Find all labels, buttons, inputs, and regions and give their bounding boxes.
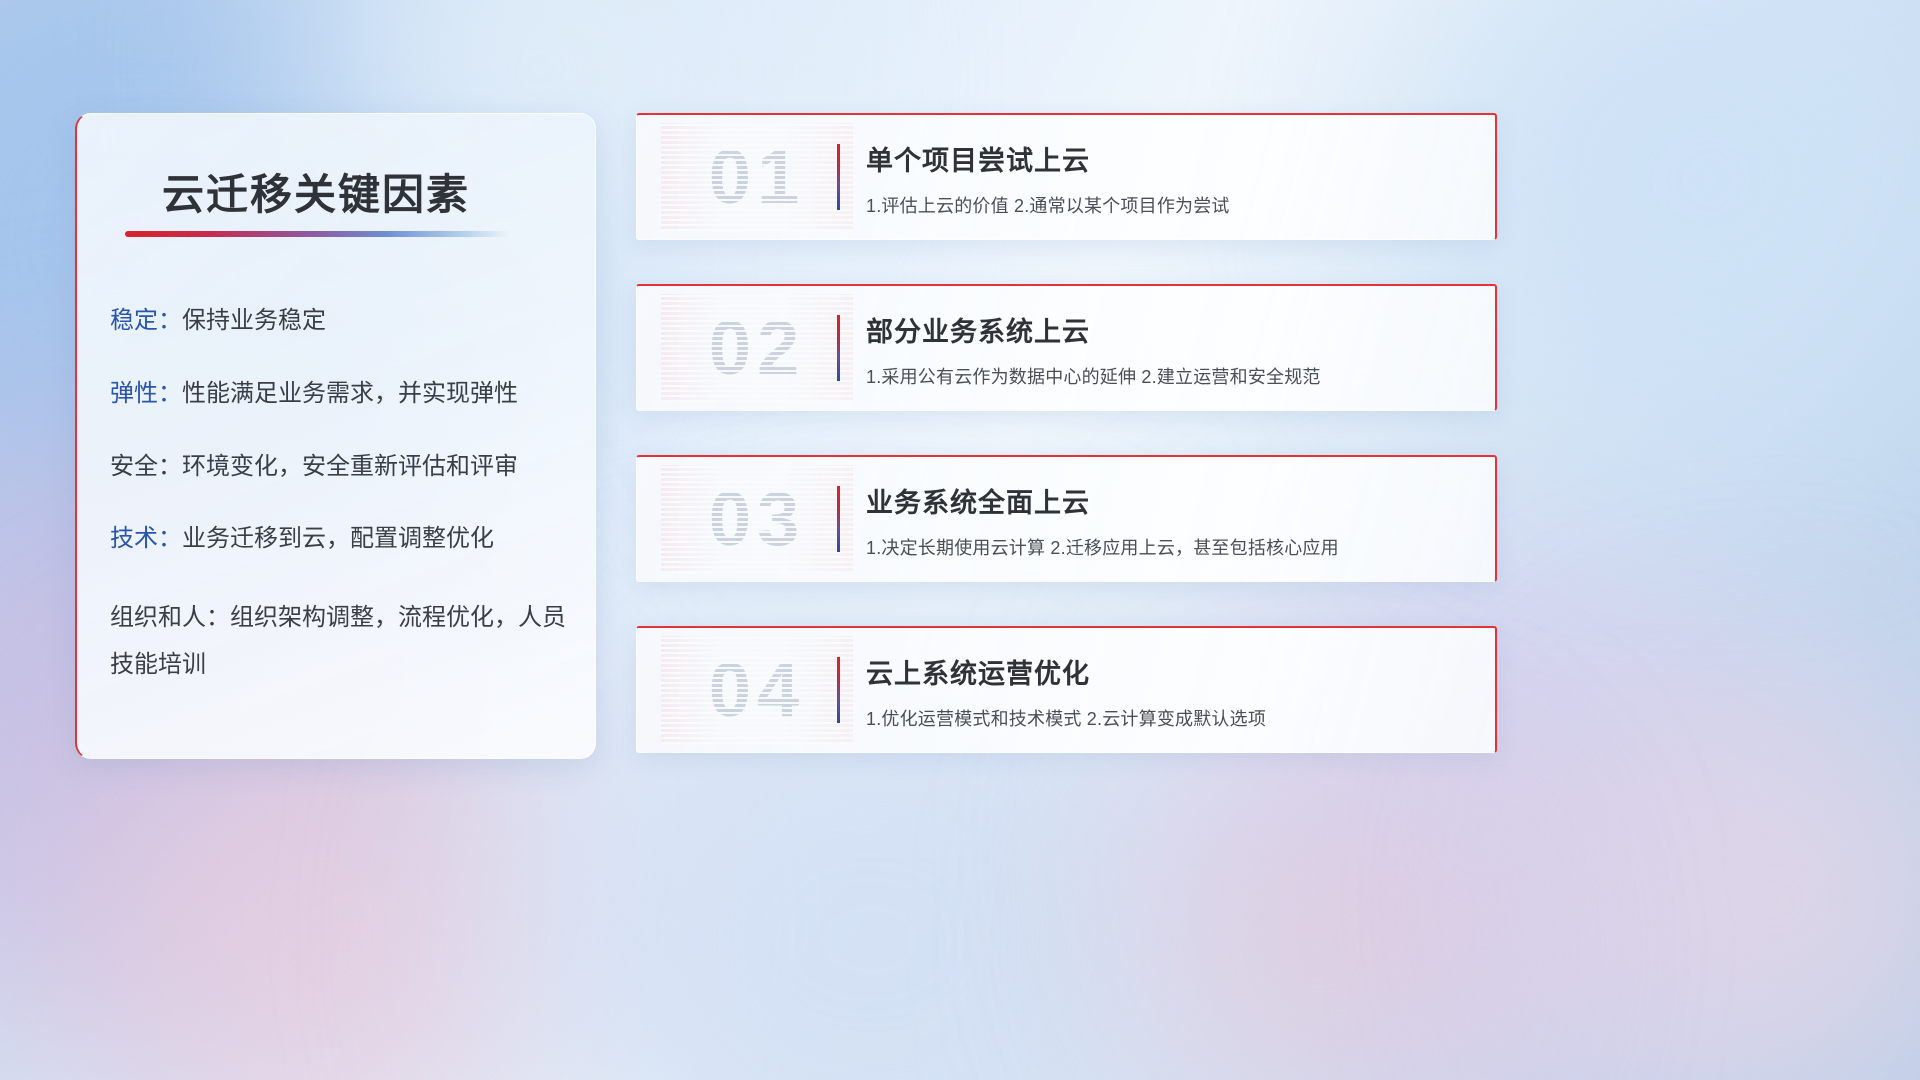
stage-number-graphic: 04 bbox=[667, 642, 847, 738]
list-item: 组织和人：组织架构调整，流程优化，人员技能培训 bbox=[110, 595, 580, 689]
stage-divider-bar bbox=[837, 657, 840, 723]
stage-number-graphic: 01 bbox=[667, 129, 847, 225]
list-item-key: 稳定： bbox=[110, 307, 182, 334]
stage-description: 1.采用公有云作为数据中心的延伸 2.建立运营和安全规范 bbox=[866, 363, 1321, 389]
stage-card[interactable]: 04 云上系统运营优化 1.优化运营模式和技术模式 2.云计算变成默认选项 bbox=[636, 626, 1497, 753]
list-item-key: 弹性： bbox=[110, 380, 182, 407]
title-underline-gradient bbox=[125, 231, 510, 237]
stage-number-graphic: 02 bbox=[667, 300, 847, 396]
key-factors-panel: 云迁移关键因素 稳定：保持业务稳定 弹性：性能满足业务需求，并实现弹性 安全：环… bbox=[75, 113, 596, 759]
stage-title: 单个项目尝试上云 bbox=[866, 139, 1090, 178]
stage-card[interactable]: 02 部分业务系统上云 1.采用公有云作为数据中心的延伸 2.建立运营和安全规范 bbox=[636, 284, 1497, 411]
list-item-value: 性能满足业务需求，并实现弹性 bbox=[182, 380, 518, 407]
stage-number: 02 bbox=[667, 300, 847, 396]
stage-description: 1.优化运营模式和技术模式 2.云计算变成默认选项 bbox=[866, 705, 1266, 731]
stage-number: 03 bbox=[667, 471, 847, 567]
list-item: 安全：环境变化，安全重新评估和评审 bbox=[110, 450, 580, 485]
stage-number: 04 bbox=[667, 642, 847, 738]
stage-number-graphic: 03 bbox=[667, 471, 847, 567]
stage-title: 部分业务系统上云 bbox=[866, 310, 1090, 349]
stage-number: 01 bbox=[667, 129, 847, 225]
stage-divider-bar bbox=[837, 486, 840, 552]
list-item-key: 组织和人： bbox=[110, 604, 230, 631]
list-item-value: 保持业务稳定 bbox=[182, 307, 326, 334]
list-item-key: 安全： bbox=[110, 453, 182, 480]
stage-divider-bar bbox=[837, 315, 840, 381]
list-item-key: 技术： bbox=[110, 525, 182, 552]
list-item: 弹性：性能满足业务需求，并实现弹性 bbox=[110, 377, 580, 412]
stage-title: 云上系统运营优化 bbox=[866, 652, 1090, 691]
stage-divider-bar bbox=[837, 144, 840, 210]
list-item-value: 环境变化，安全重新评估和评审 bbox=[182, 453, 518, 480]
stage-description: 1.评估上云的价值 2.通常以某个项目作为尝试 bbox=[866, 192, 1230, 218]
stage-card[interactable]: 03 业务系统全面上云 1.决定长期使用云计算 2.迁移应用上云，甚至包括核心应… bbox=[636, 455, 1497, 582]
list-item: 技术：业务迁移到云，配置调整优化 bbox=[110, 522, 580, 557]
stage-title: 业务系统全面上云 bbox=[866, 481, 1090, 520]
stage-card[interactable]: 01 单个项目尝试上云 1.评估上云的价值 2.通常以某个项目作为尝试 bbox=[636, 113, 1497, 240]
list-item-value: 业务迁移到云，配置调整优化 bbox=[182, 525, 494, 552]
key-factors-list: 稳定：保持业务稳定 弹性：性能满足业务需求，并实现弹性 安全：环境变化，安全重新… bbox=[110, 304, 580, 689]
list-item: 稳定：保持业务稳定 bbox=[110, 304, 580, 339]
page-title: 云迁移关键因素 bbox=[162, 161, 470, 222]
stage-description: 1.决定长期使用云计算 2.迁移应用上云，甚至包括核心应用 bbox=[866, 534, 1339, 560]
